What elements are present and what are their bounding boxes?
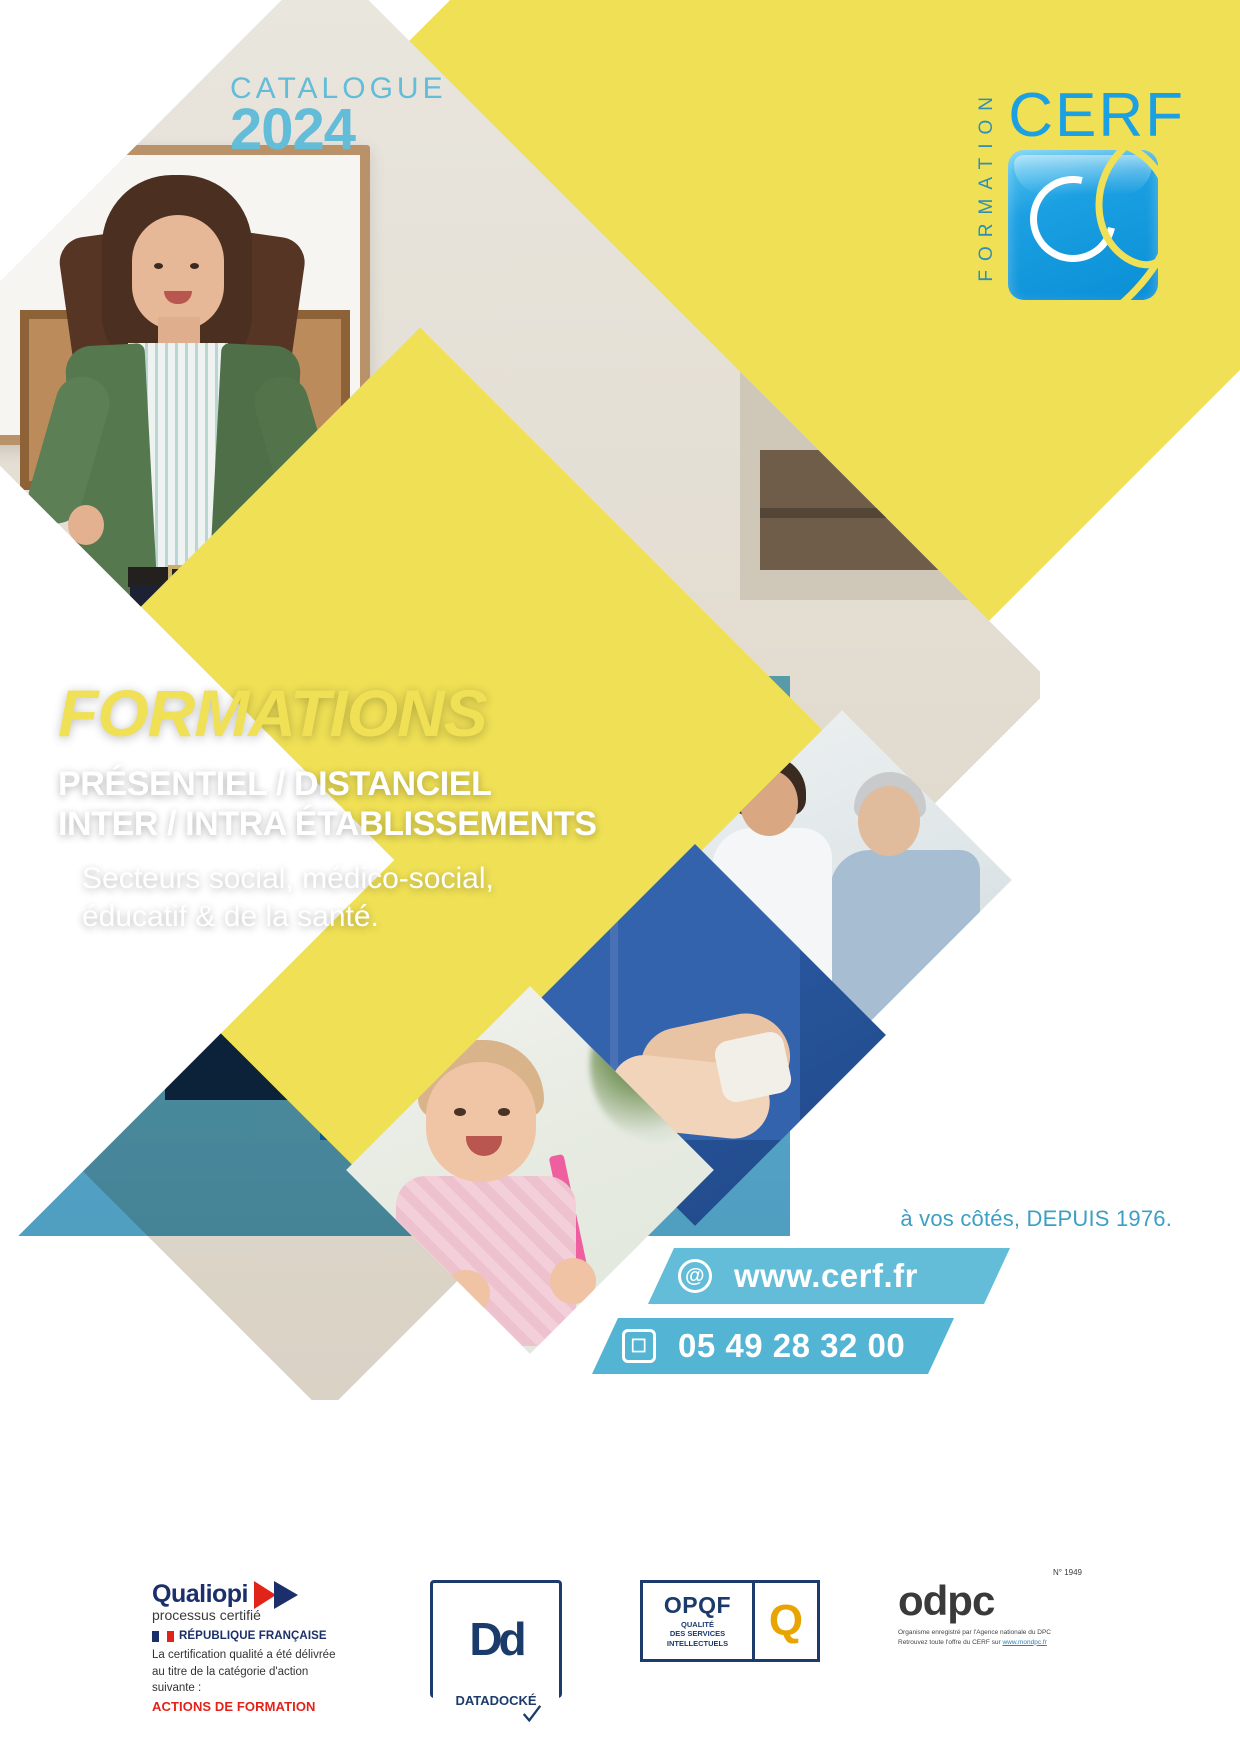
qualiopi-category: ACTIONS DE FORMATION	[152, 1699, 352, 1714]
catalog-cover-page: CATALOGUE 2024 FORMATION CERF	[0, 0, 1240, 1755]
cerf-square-icon	[1008, 150, 1158, 300]
cerf-swoosh-icon	[1066, 140, 1196, 330]
odpc-number: N° 1949	[1053, 1568, 1082, 1577]
odpc-word: odpc	[898, 1580, 1088, 1622]
cert-opqf: OPQF QUALITÉ DES SERVICES INTELLECTUELS …	[640, 1580, 820, 1662]
qualiopi-republic: RÉPUBLIQUE FRANÇAISE	[179, 1630, 327, 1642]
opqf-sub-line3: INTELLECTUELS	[667, 1639, 728, 1648]
odpc-text-line2: Retrouvez toute l'offre du CERF sur	[898, 1639, 1001, 1646]
opqf-letter: Q	[769, 1599, 803, 1643]
brand-name: CERF	[1008, 88, 1185, 144]
datadock-mark: Dd	[469, 1616, 522, 1662]
opqf-sub-line1: QUALITÉ	[681, 1620, 714, 1629]
check-icon	[521, 1703, 543, 1725]
french-flag-icon	[152, 1631, 174, 1642]
cert-datadock: Dd DATADOCKÉ	[430, 1580, 562, 1698]
hero-subtitle-line1: PRÉSENTIEL / DISTANCIEL	[58, 765, 491, 803]
qualiopi-text-line1: La certification qualité a été délivrée	[152, 1649, 335, 1661]
qualiopi-subtitle: processus certifié	[152, 1607, 352, 1623]
opqf-title: OPQF	[664, 1594, 731, 1617]
website-banner[interactable]: @ www.cerf.fr	[648, 1248, 1010, 1304]
page-title: FORMATIONS	[58, 680, 698, 746]
hero-text-block: FORMATIONS PRÉSENTIEL / DISTANCIEL INTER…	[58, 680, 698, 935]
qualiopi-text-line2: au titre de la catégorie d'action suivan…	[152, 1666, 308, 1695]
certifications-row: Qualiopi processus certifié RÉPUBLIQUE F…	[0, 1580, 1240, 1740]
hero-sectors-line1: Secteurs social, médico-social,	[82, 862, 494, 895]
phone-number: 05 49 28 32 00	[678, 1327, 905, 1365]
cert-qualiopi: Qualiopi processus certifié RÉPUBLIQUE F…	[152, 1580, 352, 1714]
at-icon: @	[678, 1259, 712, 1293]
hero-sectors: Secteurs social, médico-social, éducatif…	[58, 860, 698, 935]
opqf-sub-line2: DES SERVICES	[670, 1629, 725, 1638]
qualiopi-arrows-icon	[254, 1581, 300, 1609]
phone-icon: ☐	[622, 1329, 656, 1363]
odpc-link[interactable]: www.mondpc.fr	[1002, 1639, 1046, 1646]
qualiopi-name: Qualiopi	[152, 1580, 248, 1609]
hero-sectors-line2: éducatif & de la santé.	[82, 900, 379, 933]
catalogue-year: 2024	[230, 102, 447, 157]
brand-logo: FORMATION CERF	[976, 88, 1185, 300]
tagline: à vos côtés, DEPUIS 1976.	[900, 1206, 1172, 1232]
brand-vertical-label: FORMATION	[976, 88, 998, 286]
odpc-text-line1: Organisme enregistré par l'Agence nation…	[898, 1629, 1051, 1636]
hero-subtitle: PRÉSENTIEL / DISTANCIEL INTER / INTRA ÉT…	[58, 764, 698, 844]
catalogue-title-block: CATALOGUE 2024	[230, 72, 447, 157]
cert-odpc: N° 1949 odpc Organisme enregistré par l'…	[898, 1580, 1088, 1648]
hero-subtitle-line2: INTER / INTRA ÉTABLISSEMENTS	[58, 805, 596, 843]
website-url: www.cerf.fr	[734, 1257, 918, 1295]
phone-banner[interactable]: ☐ 05 49 28 32 00	[592, 1318, 954, 1374]
